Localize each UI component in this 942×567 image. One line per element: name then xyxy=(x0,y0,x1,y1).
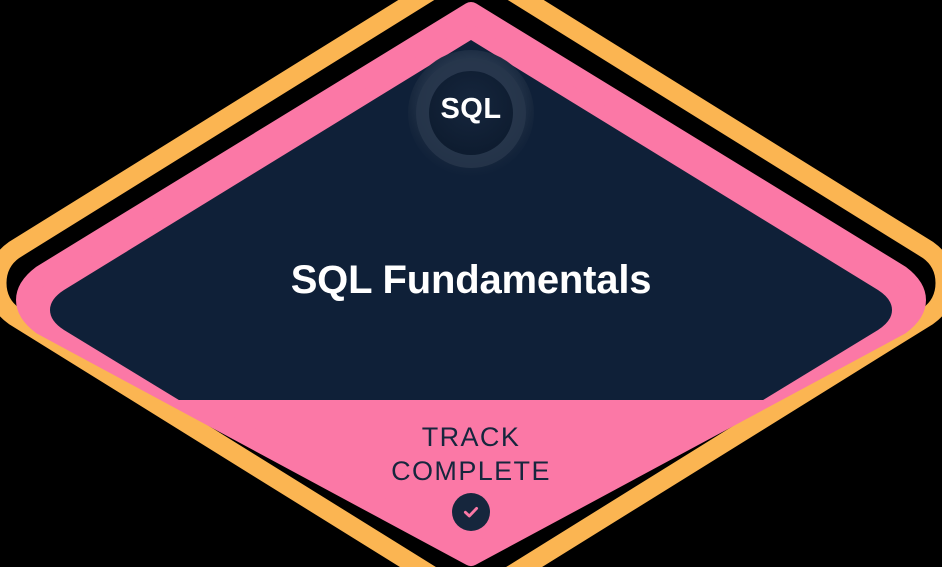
check-circle-icon xyxy=(452,493,490,531)
sql-chip-icon xyxy=(408,50,534,176)
badge-artwork xyxy=(0,0,942,567)
check-mark-icon xyxy=(461,502,481,522)
track-badge[interactable]: SQL SQL Fundamentals TRACK COMPLETE xyxy=(0,0,942,567)
